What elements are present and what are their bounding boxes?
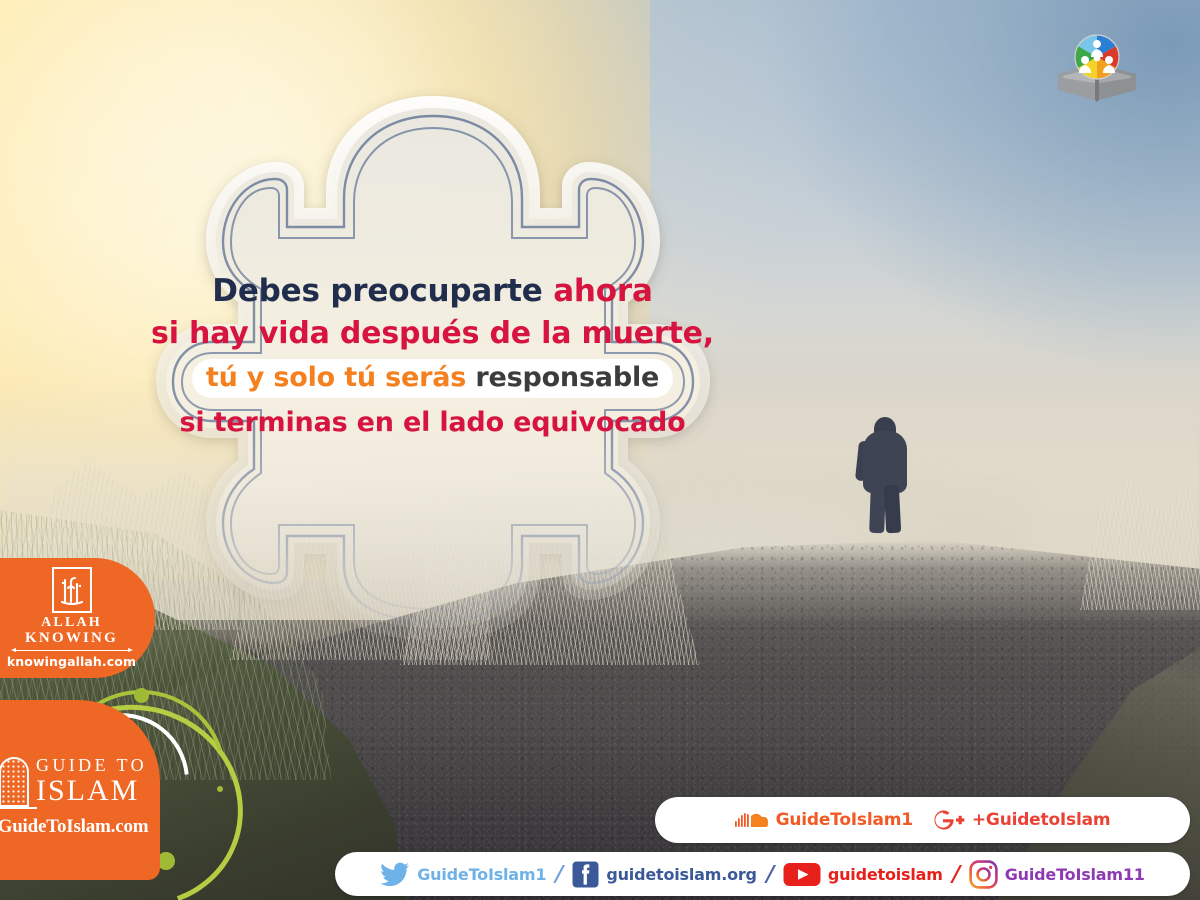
mosque-arch-icon [0, 757, 29, 807]
social-bar-bottom: GuideToIslam1 / guidetoislam.org / guide… [335, 852, 1190, 896]
social-link-facebook[interactable]: guidetoislam.org [572, 861, 756, 888]
social-label-youtube: guidetoislam [828, 865, 943, 884]
badge-divider [16, 650, 128, 651]
globe-people-on-book-logo[interactable] [1053, 28, 1141, 106]
badge-guide-to-islam[interactable]: GUIDE TO ISLAM GuideToIslam.com [0, 700, 160, 880]
quote-line-3: tú y solo tú serás responsable [150, 359, 715, 398]
allah-calligraphy-glyph [57, 572, 87, 608]
social-separator: / [553, 862, 566, 887]
quote-line-4: si terminas en el lado equivocado [150, 406, 715, 441]
badge-knowing-allah[interactable]: ALLAH KNOWING knowingallah.com [0, 558, 155, 678]
decorative-dot [217, 786, 223, 792]
social-label-facebook: guidetoislam.org [606, 865, 756, 884]
walker-leg [884, 485, 901, 534]
badge-guide-to-islam-words: GUIDE TO ISLAM [36, 756, 147, 807]
quote-line-2: si hay vida después de la muerte, [150, 315, 715, 353]
social-link-youtube[interactable]: guidetoislam [783, 861, 943, 888]
social-link-twitter[interactable]: GuideToIslam1 [380, 861, 546, 887]
youtube-icon [783, 861, 821, 888]
instagram-icon [969, 860, 998, 889]
twitter-icon [380, 861, 410, 887]
quote-line-1: Debes preocuparte ahora [150, 272, 715, 312]
badge-guide-to-islam-url[interactable]: GuideToIslam.com [0, 816, 148, 838]
soundcloud-icon [735, 810, 769, 830]
quote-line-3-gray: responsable [475, 362, 659, 393]
social-link-googleplus[interactable]: +GuidetoIslam [931, 808, 1111, 832]
facebook-icon [572, 861, 599, 888]
quote-line-1-navy: Debes preocuparte [212, 273, 553, 309]
badge-knowing-allah-line2: KNOWING [25, 631, 118, 647]
quote-line-3-orange: tú y solo tú serás [206, 362, 475, 393]
social-separator: / [949, 862, 962, 887]
badge-guide-to-islam-row: GUIDE TO ISLAM [0, 756, 147, 807]
globe-people-on-book-icon [1053, 28, 1141, 106]
quote-line-3-pill: tú y solo tú serás responsable [192, 359, 673, 398]
social-label-googleplus: +GuidetoIslam [972, 810, 1111, 830]
walker-torso [863, 431, 907, 493]
google-plus-icon [931, 808, 965, 832]
quote-block: Debes preocuparte ahora si hay vida desp… [150, 272, 715, 440]
social-label-instagram: GuideToIslam11 [1005, 865, 1145, 884]
walking-person-silhouette [855, 415, 917, 535]
decorative-dot [134, 688, 149, 703]
social-label-soundcloud: GuideToIslam1 [776, 810, 913, 830]
badge-guide-to-islam-line2: ISLAM [36, 775, 147, 807]
social-link-soundcloud[interactable]: GuideToIslam1 [735, 810, 913, 830]
social-label-twitter: GuideToIslam1 [417, 865, 546, 884]
social-bar-top: GuideToIslam1 +GuidetoIslam [655, 797, 1190, 843]
badge-knowing-allah-url[interactable]: knowingallah.com [7, 654, 136, 669]
badge-guide-to-islam-line1: GUIDE TO [36, 756, 147, 774]
social-separator: / [763, 862, 776, 887]
poster-canvas: Debes preocuparte ahora si hay vida desp… [0, 0, 1200, 900]
quote-line-1-highlight: ahora [553, 273, 653, 309]
badge-knowing-allah-line1: ALLAH [41, 616, 102, 631]
social-link-instagram[interactable]: GuideToIslam11 [969, 860, 1145, 889]
arabic-calligraphy-allah-icon [52, 567, 92, 613]
